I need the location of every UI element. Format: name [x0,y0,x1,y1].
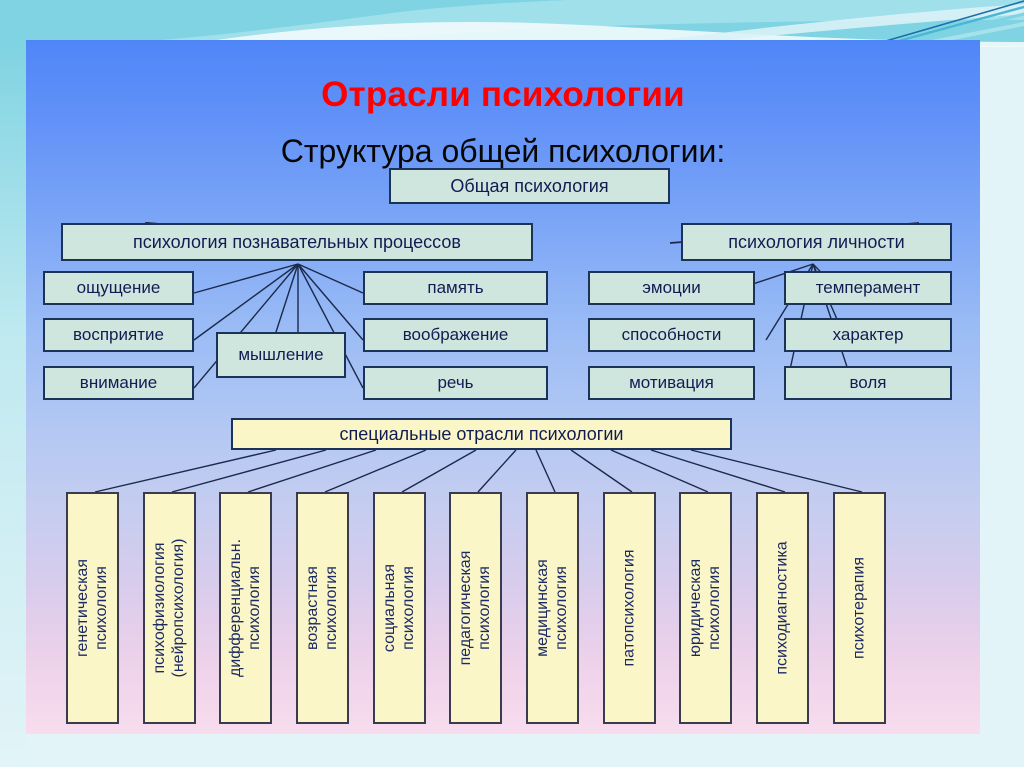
vnode-pathopsychology[interactable]: патопсихология [603,492,656,724]
node-imagination[interactable]: воображение [363,318,548,352]
vnode-medical-psychology-label: медицинская психология [534,559,572,657]
node-motivation-label: мотивация [629,374,714,392]
vnode-social-psychology[interactable]: социальная психология [373,492,426,724]
node-attention-label: внимание [80,374,157,392]
vnode-legal-psychology[interactable]: юридическая психология [679,492,732,724]
node-branch-cognitive[interactable]: психология познавательных процессов [61,223,533,261]
vnode-developmental-psychology-label: возрастная психология [304,566,342,650]
node-perception-label: восприятие [73,326,164,344]
node-imagination-label: воображение [403,326,509,344]
node-will[interactable]: воля [784,366,952,400]
content-panel: Отрасли психологии Структура общей психо… [26,40,980,734]
node-branch-personality-label: психология личности [728,233,904,252]
vnode-developmental-psychology[interactable]: возрастная психология [296,492,349,724]
node-temperament-label: темперамент [816,279,921,297]
vnode-differential-psychology-label: дифференциальн. психология [227,539,265,677]
node-speech-label: речь [437,374,473,392]
node-motivation[interactable]: мотивация [588,366,755,400]
node-attention[interactable]: внимание [43,366,194,400]
node-thinking[interactable]: мышление [216,332,346,378]
vnode-psychophysiology-label: психофизиология (нейропсихология) [151,539,189,678]
node-memory-label: память [427,279,483,297]
node-perception[interactable]: восприятие [43,318,194,352]
node-temperament[interactable]: темперамент [784,271,952,305]
vnode-psychodiagnostics-label: психодиагностика [773,541,792,674]
node-root-label: Общая психология [450,177,608,196]
node-root[interactable]: Общая психология [389,168,670,204]
node-branch-cognitive-label: психология познавательных процессов [133,233,461,252]
node-will-label: воля [849,374,886,392]
vnode-pedagogical-psychology[interactable]: педагогическая психология [449,492,502,724]
node-memory[interactable]: память [363,271,548,305]
vnode-social-psychology-label: социальная психология [381,564,419,652]
node-abilities[interactable]: способности [588,318,755,352]
decorative-left-strip [0,40,26,767]
node-emotions[interactable]: эмоции [588,271,755,305]
node-special-branches[interactable]: специальные отрасли психологии [231,418,732,450]
node-speech[interactable]: речь [363,366,548,400]
node-emotions-label: эмоции [642,279,701,297]
vnode-psychodiagnostics[interactable]: психодиагностика [756,492,809,724]
node-special-branches-label: специальные отрасли психологии [340,425,624,444]
slide: Отрасли психологии Структура общей психо… [0,0,1024,767]
page-title: Отрасли психологии [26,75,980,115]
vnode-psychotherapy-label: психотерапия [850,557,869,659]
vnode-legal-psychology-label: юридическая психология [687,559,725,657]
node-abilities-label: способности [622,326,722,344]
node-character[interactable]: характер [784,318,952,352]
vnode-genetic-psychology[interactable]: генетическая психология [66,492,119,724]
node-character-label: характер [833,326,904,344]
node-sensation[interactable]: ощущение [43,271,194,305]
vnode-psychophysiology[interactable]: психофизиология (нейропсихология) [143,492,196,724]
page-subtitle: Структура общей психологии: [26,133,980,170]
node-thinking-label: мышление [238,346,323,364]
vnode-medical-psychology[interactable]: медицинская психология [526,492,579,724]
vnode-genetic-psychology-label: генетическая психология [74,559,112,657]
vnode-pedagogical-psychology-label: педагогическая психология [457,551,495,666]
node-branch-personality[interactable]: психология личности [681,223,952,261]
node-sensation-label: ощущение [77,279,161,297]
vnode-psychotherapy[interactable]: психотерапия [833,492,886,724]
vnode-differential-psychology[interactable]: дифференциальн. психология [219,492,272,724]
vnode-pathopsychology-label: патопсихология [620,549,639,666]
